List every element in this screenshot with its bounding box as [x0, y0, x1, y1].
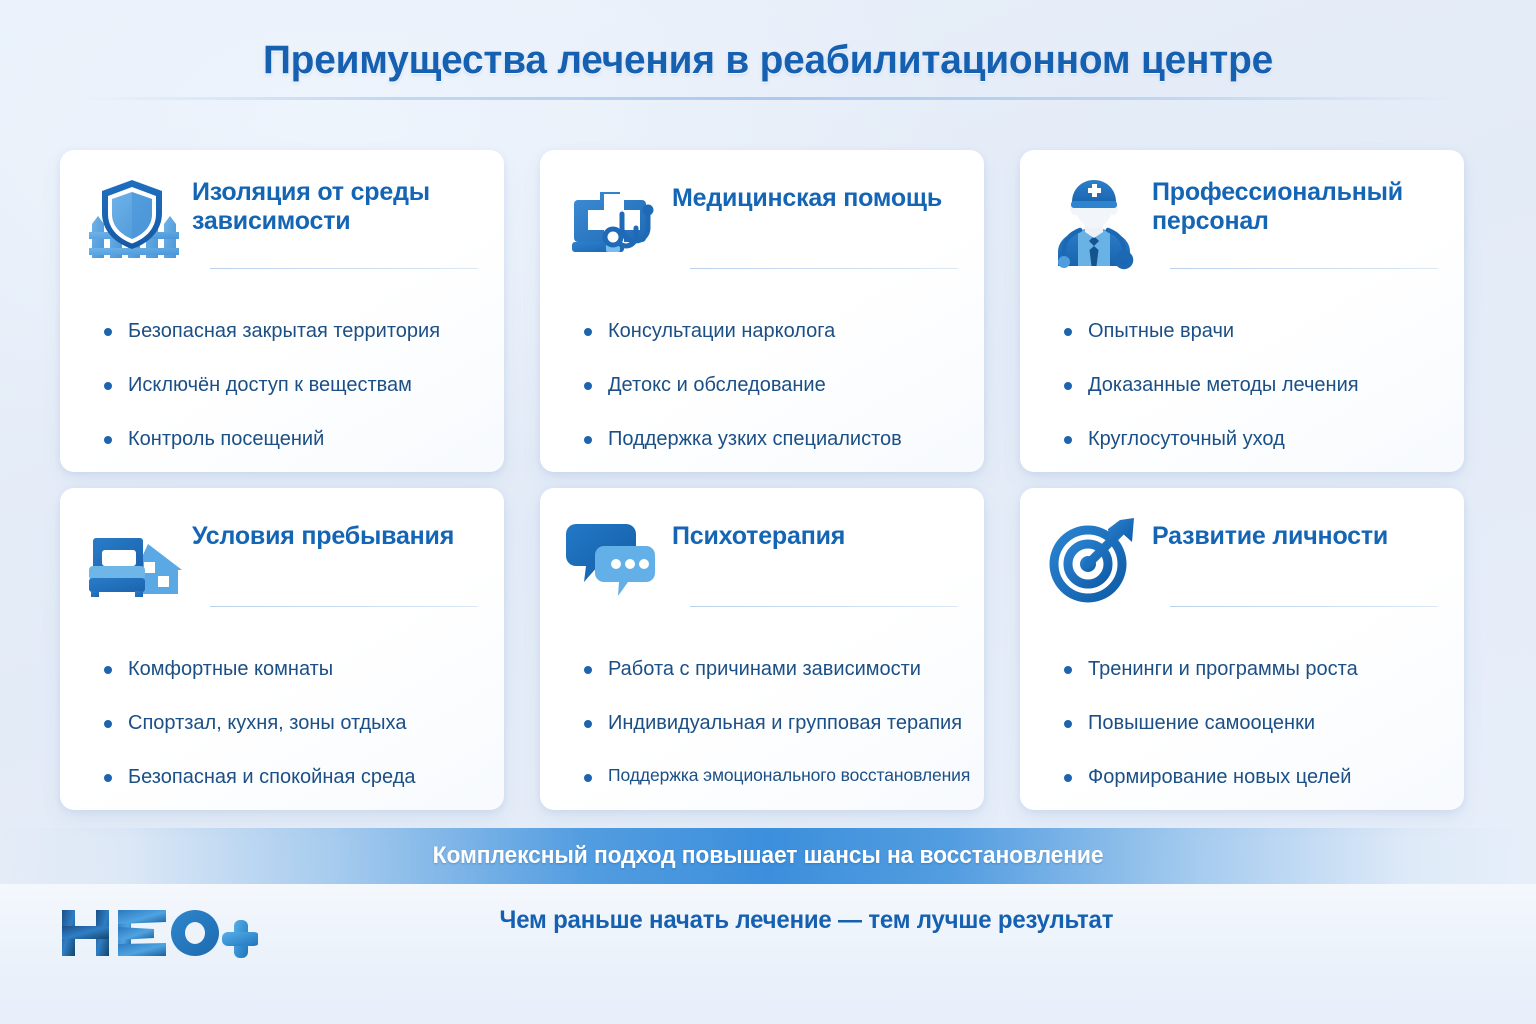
- card-header: Условия пребывания: [86, 510, 478, 608]
- summary-banner: Комплексный подход повышает шансы на вос…: [0, 828, 1536, 884]
- list-item: Тренинги и программы роста: [1064, 656, 1438, 682]
- list-item: Детокс и обследование: [584, 372, 958, 398]
- card-header: Изоляция от среды зависимости: [86, 172, 478, 270]
- benefits-grid: Изоляция от среды зависимости Безопасная…: [60, 150, 1476, 810]
- list-item: Круглосуточный уход: [1064, 426, 1438, 452]
- list-item: Формирование новых целей: [1064, 764, 1438, 790]
- card-divider: [1170, 606, 1438, 607]
- speech-bubbles-icon: [566, 512, 662, 608]
- page-footer: Чем раньше начать лечение — тем лучше ре…: [0, 884, 1536, 1024]
- list-item: Комфортные комнаты: [104, 656, 478, 682]
- card-header: Профессиональный персонал: [1046, 172, 1438, 270]
- list-item: Исключён доступ к веществам: [104, 372, 478, 398]
- benefit-list: Комфортные комнаты Спортзал, кухня, зоны…: [86, 656, 478, 790]
- list-item: Повышение самооценки: [1064, 710, 1438, 736]
- benefit-card-staff[interactable]: Профессиональный персонал Опытные врачи …: [1020, 150, 1464, 472]
- doctor-icon: [1046, 174, 1142, 270]
- card-title: Профессиональный персонал: [1152, 172, 1438, 235]
- benefit-card-psychotherapy[interactable]: Психотерапия Работа с причинами зависимо…: [540, 488, 984, 810]
- benefit-card-medical-help[interactable]: Медицинская помощь Консультации нарколог…: [540, 150, 984, 472]
- benefit-card-isolation[interactable]: Изоляция от среды зависимости Безопасная…: [60, 150, 504, 472]
- benefit-list: Работа с причинами зависимости Индивидуа…: [566, 656, 958, 787]
- list-item: Поддержка узких специалистов: [584, 426, 958, 452]
- card-title: Медицинская помощь: [672, 172, 942, 213]
- list-item: Работа с причинами зависимости: [584, 656, 958, 682]
- card-divider: [690, 268, 958, 269]
- benefit-card-accommodation[interactable]: Условия пребывания Комфортные комнаты Сп…: [60, 488, 504, 810]
- medical-bag-stethoscope-icon: [566, 174, 662, 270]
- list-item: Доказанные методы лечения: [1064, 372, 1438, 398]
- list-item: Опытные врачи: [1064, 318, 1438, 344]
- title-divider: [78, 97, 1458, 100]
- list-item: Безопасная и спокойная среда: [104, 764, 478, 790]
- list-item: Консультации нарколога: [584, 318, 958, 344]
- benefit-list: Тренинги и программы роста Повышение сам…: [1046, 656, 1438, 790]
- card-divider: [690, 606, 958, 607]
- card-divider: [210, 268, 478, 269]
- page-title: Преимущества лечения в реабилитационном …: [23, 38, 1513, 83]
- list-item: Поддержка эмоционального восстановления: [584, 764, 958, 787]
- target-arrow-icon: [1046, 512, 1142, 608]
- list-item: Спортзал, кухня, зоны отдыха: [104, 710, 478, 736]
- benefit-list: Опытные врачи Доказанные методы лечения …: [1046, 318, 1438, 452]
- card-title: Развитие личности: [1152, 510, 1388, 551]
- card-header: Медицинская помощь: [566, 172, 958, 270]
- shield-fence-icon: [86, 174, 182, 270]
- card-header: Развитие личности: [1046, 510, 1438, 608]
- benefit-card-personal-growth[interactable]: Развитие личности Тренинги и программы р…: [1020, 488, 1464, 810]
- page-header: Преимущества лечения в реабилитационном …: [0, 0, 1536, 100]
- banner-text: Комплексный подход повышает шансы на вос…: [433, 842, 1104, 870]
- card-divider: [210, 606, 478, 607]
- card-divider: [1170, 268, 1438, 269]
- benefit-list: Консультации нарколога Детокс и обследов…: [566, 318, 958, 452]
- footer-tagline: Чем раньше начать лечение — тем лучше ре…: [31, 906, 1506, 935]
- list-item: Контроль посещений: [104, 426, 478, 452]
- list-item: Индивидуальная и групповая терапия: [584, 710, 958, 736]
- card-title: Условия пребывания: [192, 510, 454, 551]
- bed-house-icon: [86, 512, 182, 608]
- benefit-list: Безопасная закрытая территория Исключён …: [86, 318, 478, 452]
- card-header: Психотерапия: [566, 510, 958, 608]
- card-title: Изоляция от среды зависимости: [192, 172, 478, 235]
- card-title: Психотерапия: [672, 510, 845, 551]
- list-item: Безопасная закрытая территория: [104, 318, 478, 344]
